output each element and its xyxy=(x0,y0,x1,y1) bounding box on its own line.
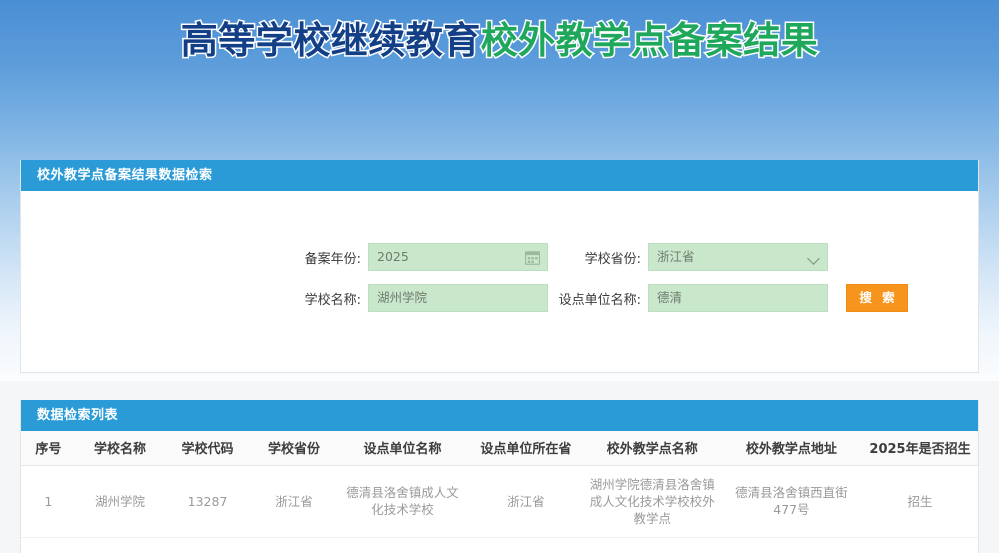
results-panel: 数据检索列表 序号 学校名称 学校代码 学校省份 设点单位名称 设点单位所在省 … xyxy=(20,400,979,553)
table-row[interactable]: 1 湖州学院 13287 浙江省 德清县洛舍镇成人文化技术学校 浙江省 湖州学院… xyxy=(21,465,978,537)
search-form-row-2: 学校名称: 湖州学院 设点单位名称: 德清 xyxy=(21,284,978,312)
cell-enrolling: 招生 xyxy=(862,465,978,537)
page-title-part1: 高等学校继续教育 xyxy=(181,19,481,62)
cell-index: 1 xyxy=(21,465,76,537)
page-title-part2: 校外教学点备案结果 xyxy=(481,19,819,62)
cell-school-province: 浙江省 xyxy=(251,465,337,537)
school-name-label: 学校名称: xyxy=(296,289,368,308)
school-province-select[interactable]: 浙江省 xyxy=(648,243,828,271)
search-button[interactable]: 搜 索 xyxy=(846,284,908,312)
col-header-index: 序号 xyxy=(21,431,76,465)
school-name-value: 湖州学院 xyxy=(377,285,427,311)
cell-unit-name: 德清县洛舍镇成人文化技术学校 xyxy=(337,465,468,537)
col-header-point-name: 校外教学点名称 xyxy=(584,431,721,465)
results-table: 序号 学校名称 学校代码 学校省份 设点单位名称 设点单位所在省 校外教学点名称… xyxy=(21,431,978,538)
cell-point-address: 德清县洛舍镇西直街477号 xyxy=(721,465,862,537)
col-header-school-name: 学校名称 xyxy=(76,431,165,465)
filing-year-input[interactable]: 2025 xyxy=(368,243,548,271)
results-panel-header: 数据检索列表 xyxy=(21,400,978,431)
unit-name-value: 德清 xyxy=(657,285,682,311)
page-title: 高等学校继续教育校外教学点备案结果 xyxy=(0,14,999,75)
filing-year-value: 2025 xyxy=(377,244,409,270)
unit-name-input[interactable]: 德清 xyxy=(648,284,828,312)
field-unit-name: 设点单位名称: 德清 xyxy=(551,284,828,312)
field-school-province: 学校省份: 浙江省 xyxy=(576,243,828,271)
calendar-icon[interactable] xyxy=(525,250,540,265)
search-form: 备案年份: 2025 xyxy=(21,191,978,372)
col-header-point-address: 校外教学点地址 xyxy=(721,431,862,465)
search-panel-header: 校外教学点备案结果数据检索 xyxy=(21,160,978,191)
cell-school-name: 湖州学院 xyxy=(76,465,165,537)
search-form-row-1: 备案年份: 2025 xyxy=(21,243,978,271)
filing-year-label: 备案年份: xyxy=(296,248,368,267)
search-panel: 校外教学点备案结果数据检索 备案年份: 2025 xyxy=(20,160,979,373)
col-header-school-code: 学校代码 xyxy=(164,431,250,465)
cell-point-name: 湖州学院德清县洛舍镇成人文化技术学校校外教学点 xyxy=(584,465,721,537)
field-school-name: 学校名称: 湖州学院 xyxy=(296,284,548,312)
field-filing-year: 备案年份: 2025 xyxy=(296,243,548,271)
chevron-down-icon[interactable] xyxy=(807,252,820,265)
unit-name-label: 设点单位名称: xyxy=(551,289,648,308)
table-header-row: 序号 学校名称 学校代码 学校省份 设点单位名称 设点单位所在省 校外教学点名称… xyxy=(21,431,978,465)
col-header-unit-province: 设点单位所在省 xyxy=(468,431,584,465)
cell-unit-province: 浙江省 xyxy=(468,465,584,537)
school-province-value: 浙江省 xyxy=(657,244,695,270)
school-name-input[interactable]: 湖州学院 xyxy=(368,284,548,312)
col-header-enrolling: 2025年是否招生 xyxy=(862,431,978,465)
cell-school-code: 13287 xyxy=(164,465,250,537)
school-province-label: 学校省份: xyxy=(576,248,648,267)
col-header-unit-name: 设点单位名称 xyxy=(337,431,468,465)
col-header-school-province: 学校省份 xyxy=(251,431,337,465)
